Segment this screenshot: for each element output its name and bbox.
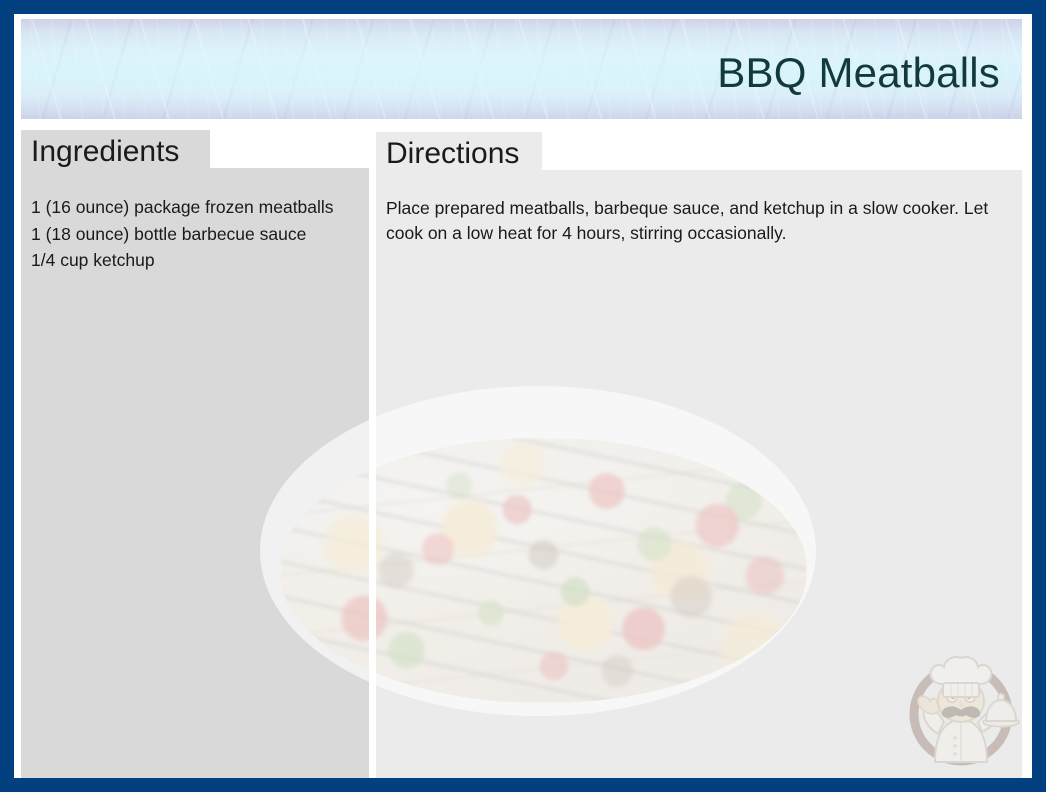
page-title: BBQ Meatballs (717, 49, 1000, 97)
ingredient-item: 1/4 cup ketchup (31, 247, 353, 274)
panel-gutter (369, 130, 376, 778)
slide-outer-frame: BBQ Meatballs Ingredients 1 (16 ounce) p… (0, 0, 1046, 792)
ingredients-heading: Ingredients (21, 130, 210, 172)
direction-step: Place prepared meatballs, barbeque sauce… (386, 196, 1006, 246)
ingredient-item: 1 (16 ounce) package frozen meatballs (31, 194, 353, 221)
chef-mascot-logo (902, 638, 1020, 770)
header-banner: BBQ Meatballs (21, 19, 1022, 119)
photo-artwork (280, 438, 807, 703)
slide-canvas: BBQ Meatballs Ingredients 1 (16 ounce) p… (14, 14, 1032, 778)
grilled-kebabs-photo (280, 438, 807, 703)
directions-heading: Directions (376, 132, 542, 174)
ingredient-item: 1 (18 ounce) bottle barbecue sauce (31, 221, 353, 248)
